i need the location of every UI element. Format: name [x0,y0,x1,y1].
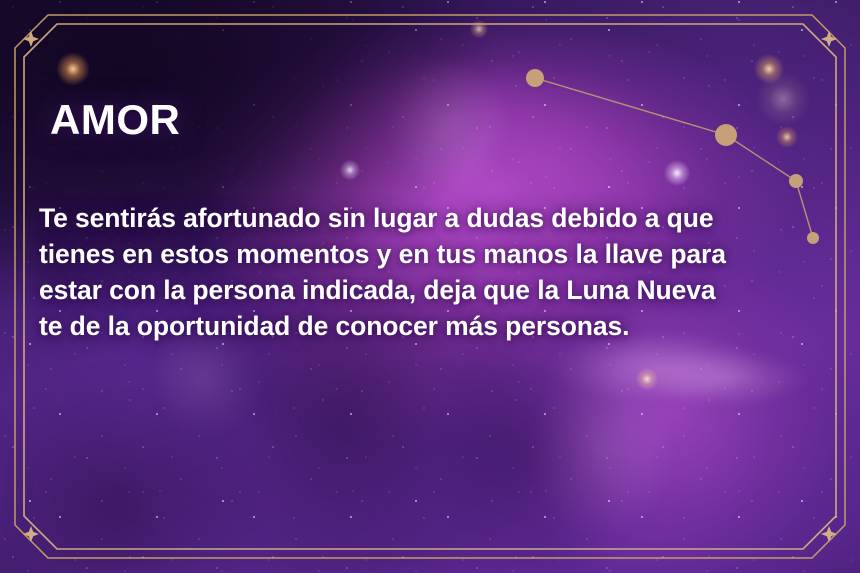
body-line-4: te de la oportunidad de conocer más pers… [39,308,829,344]
body-line-2: tienes en estos momentos y en tus manos … [39,236,829,272]
page-title: AMOR [50,96,180,144]
body-line-3: estar con la persona indicada, deja que … [39,272,829,308]
horoscope-card: AMOR Te sentirás afortunado sin lugar a … [0,0,860,573]
horoscope-body-text: Te sentirás afortunado sin lugar a dudas… [39,200,829,344]
body-line-1: Te sentirás afortunado sin lugar a dudas… [39,200,829,236]
